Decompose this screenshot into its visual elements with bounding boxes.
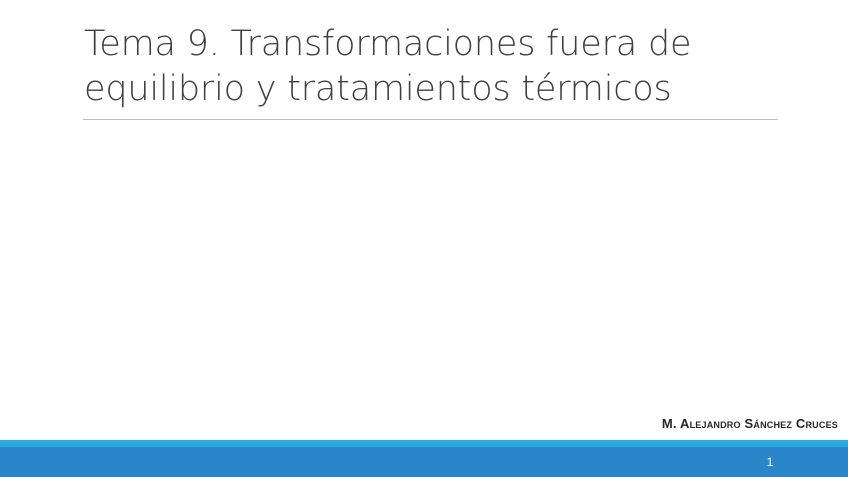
title-divider-rule	[83, 119, 778, 120]
slide-content-body	[84, 140, 779, 405]
slide-number: 1	[758, 455, 782, 469]
presentation-slide: Tema 9. Transformaciones fuera de equili…	[0, 0, 848, 477]
page-title: Tema 9. Transformaciones fuera de equili…	[84, 22, 784, 112]
footer-accent-strip	[0, 440, 848, 447]
slide-title-block: Tema 9. Transformaciones fuera de equili…	[84, 22, 784, 112]
footer-bar	[0, 447, 848, 477]
author-credit: M. Alejandro Sánchez Cruces	[662, 416, 838, 432]
